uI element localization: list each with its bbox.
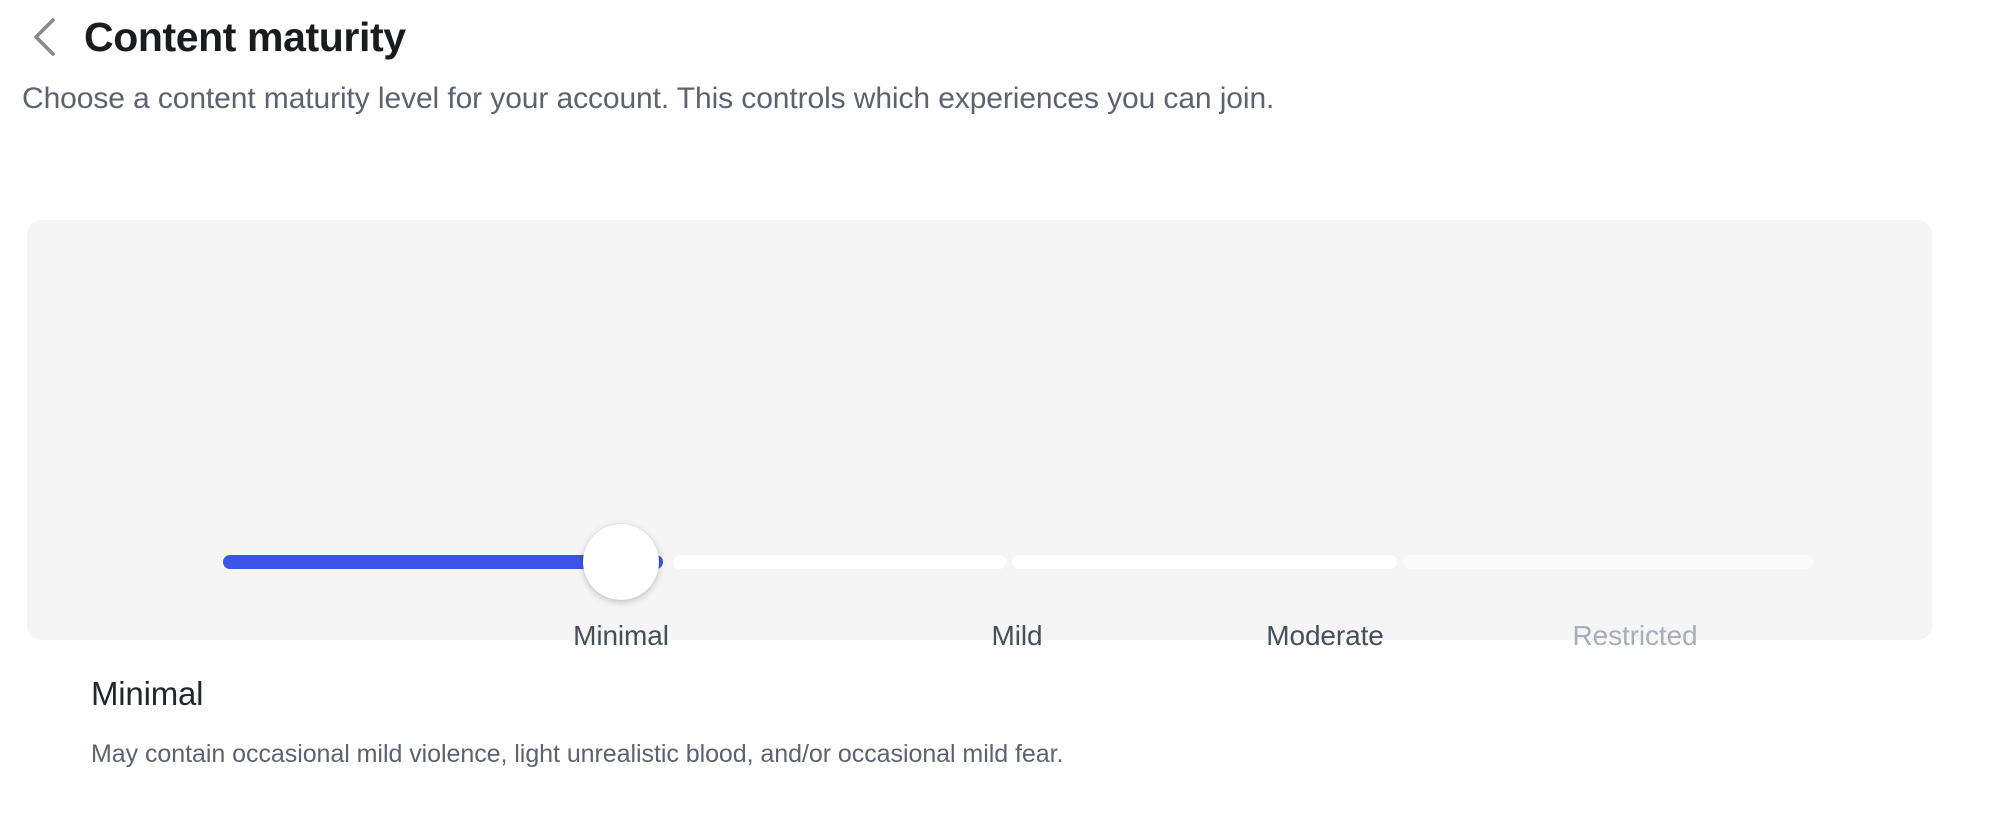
slider-segment-moderate[interactable]: [1012, 555, 1397, 569]
slider-segment-restricted: [1403, 555, 1814, 569]
back-button[interactable]: [22, 15, 66, 59]
slider-label-restricted: Restricted: [1572, 620, 1697, 652]
slider-tick-labels: Minimal Mild Moderate Restricted: [223, 620, 1814, 660]
maturity-description-title: Minimal: [91, 674, 1063, 714]
slider-segment-mild[interactable]: [673, 555, 1006, 569]
content-maturity-slider[interactable]: Minimal Mild Moderate Restricted: [27, 220, 1932, 640]
slider-label-mild[interactable]: Mild: [992, 620, 1043, 652]
slider-label-minimal[interactable]: Minimal: [573, 620, 669, 652]
page-title: Content maturity: [84, 17, 406, 58]
slider-label-moderate[interactable]: Moderate: [1266, 620, 1384, 652]
maturity-description-body: May contain occasional mild violence, li…: [91, 738, 1063, 771]
maturity-description: Minimal May contain occasional mild viol…: [91, 674, 1063, 770]
chevron-left-icon: [29, 16, 59, 58]
content-maturity-card: Minimal Mild Moderate Restricted Minimal…: [27, 220, 1932, 640]
page-header: Content maturity: [0, 0, 1999, 56]
slider-track[interactable]: [223, 555, 1814, 569]
page-subtitle: Choose a content maturity level for your…: [22, 80, 1999, 118]
slider-thumb[interactable]: [583, 524, 659, 600]
